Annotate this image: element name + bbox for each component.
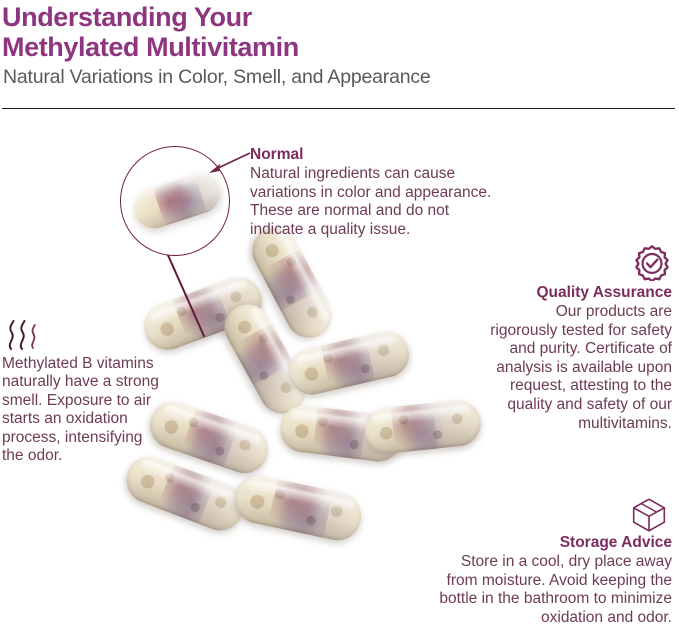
- callout-quality-assurance: Quality Assurance Our products are rigor…: [430, 283, 672, 433]
- callout-normal: Normal Natural ingredients can cause var…: [250, 145, 500, 239]
- infographic-page: Understanding Your Methylated Multivitam…: [0, 0, 679, 628]
- callout-normal-body: Natural ingredients can cause variations…: [250, 165, 500, 239]
- smell-waves-icon: [4, 318, 44, 352]
- callout-smell: Methylated B vitamins naturally have a s…: [2, 355, 190, 465]
- verified-check-badge-icon: [634, 245, 670, 281]
- box-package-icon: [630, 497, 668, 533]
- page-title-line-2: Methylated Multivitamin: [2, 32, 299, 62]
- callout-storage-advice: Storage Advice Store in a cool, dry plac…: [426, 533, 672, 627]
- normal-callout-arrow-icon: [206, 150, 252, 176]
- header: Understanding Your Methylated Multivitam…: [0, 0, 679, 112]
- callout-storage-advice-heading: Storage Advice: [426, 533, 672, 552]
- header-divider: [2, 108, 675, 109]
- capsule: [230, 471, 365, 545]
- callout-normal-heading: Normal: [250, 145, 500, 164]
- callout-quality-assurance-body: Our products are rigorously tested for s…: [430, 303, 672, 433]
- callout-quality-assurance-heading: Quality Assurance: [430, 283, 672, 302]
- page-subtitle: Natural Variations in Color, Smell, and …: [3, 66, 431, 89]
- magnified-capsule: [129, 168, 225, 233]
- callout-storage-advice-body: Store in a cool, dry place away from moi…: [426, 553, 672, 627]
- callout-smell-body: Methylated B vitamins naturally have a s…: [2, 355, 190, 465]
- page-title-line-1: Understanding Your: [2, 2, 252, 32]
